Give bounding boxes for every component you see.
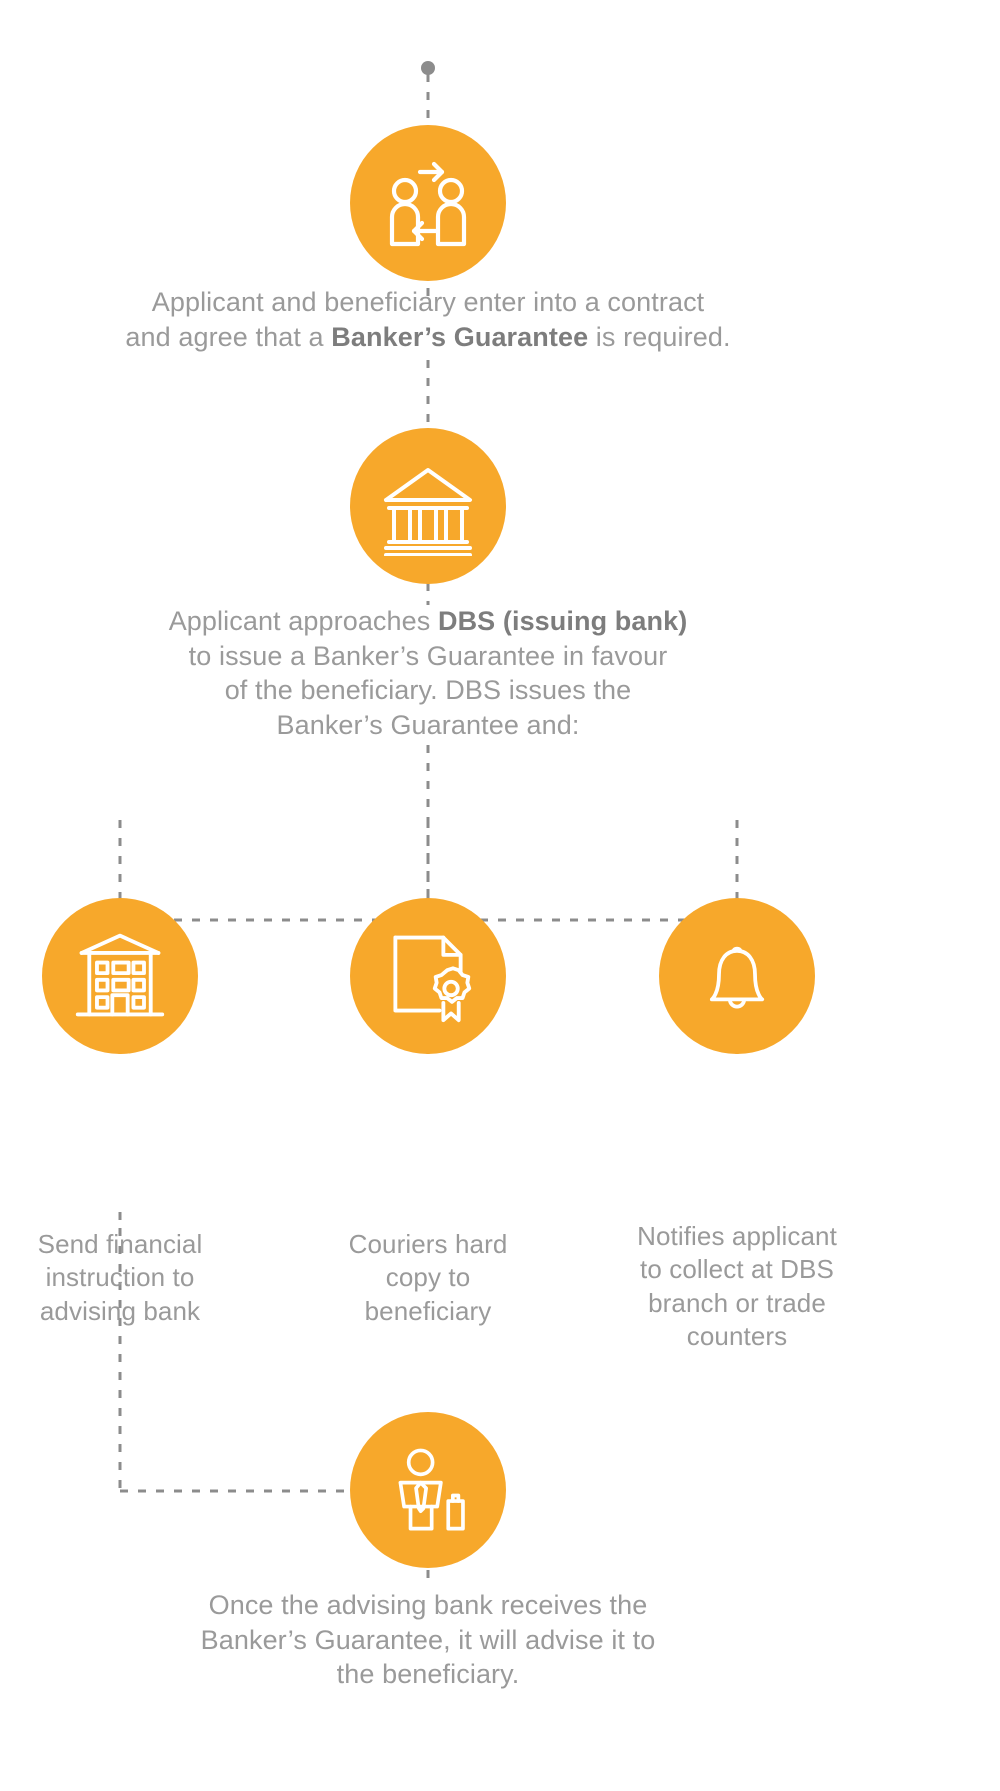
infographic-canvas: Applicant and beneficiary enter into a c… xyxy=(0,0,1000,1791)
step-2-line-4: Banker’s Guarantee and: xyxy=(130,708,726,743)
businessman-briefcase-icon xyxy=(382,1444,474,1536)
branch-2-line-1: Couriers hard xyxy=(308,1228,548,1261)
final-step-circle[interactable] xyxy=(350,1412,506,1568)
branch-courier-circle[interactable] xyxy=(350,898,506,1054)
step-1-line-2-pre: and agree that a xyxy=(125,322,331,352)
branch-1-line-2: instruction to xyxy=(0,1261,240,1294)
start-dot-icon xyxy=(421,61,435,75)
branch-advising-bank-circle[interactable] xyxy=(42,898,198,1054)
notification-bell-icon xyxy=(692,931,782,1021)
step-2-line-1-bold: DBS (issuing bank) xyxy=(438,606,687,636)
step-1-line-2-post: is required. xyxy=(588,322,730,352)
branch-3-line-1: Notifies applicant xyxy=(612,1220,862,1253)
step-2-circle[interactable] xyxy=(350,428,506,584)
final-line-2: Banker’s Guarantee, it will advise it to xyxy=(150,1623,706,1658)
bank-building-icon xyxy=(378,456,478,556)
two-people-exchange-icon xyxy=(380,155,476,251)
step-2-line-1-pre: Applicant approaches xyxy=(169,606,438,636)
final-line-3: the beneficiary. xyxy=(150,1657,706,1692)
branch-3-line-2: to collect at DBS xyxy=(612,1253,862,1286)
step-2-line-3: of the beneficiary. DBS issues the xyxy=(130,673,726,708)
branch-2-line-3: beneficiary xyxy=(308,1295,548,1328)
final-step-caption: Once the advising bank receives the Bank… xyxy=(150,1588,706,1692)
branch-notify-caption: Notifies applicant to collect at DBS bra… xyxy=(612,1220,862,1353)
branch-3-line-3: branch or trade xyxy=(612,1287,862,1320)
connector-lines xyxy=(0,0,1000,1791)
step-1-line-2: and agree that a Banker’s Guarantee is r… xyxy=(100,320,756,355)
branch-notify-circle[interactable] xyxy=(659,898,815,1054)
branch-3-line-4: counters xyxy=(612,1320,862,1353)
branch-courier-caption: Couriers hard copy to beneficiary xyxy=(308,1228,548,1328)
branch-2-line-2: copy to xyxy=(308,1261,548,1294)
step-1-circle[interactable] xyxy=(350,125,506,281)
office-building-icon xyxy=(72,928,168,1024)
step-1-line-2-bold: Banker’s Guarantee xyxy=(331,322,588,352)
certificate-document-icon xyxy=(380,928,476,1024)
step-2-line-2: to issue a Banker’s Guarantee in favour xyxy=(130,639,726,674)
step-2-caption: Applicant approaches DBS (issuing bank) … xyxy=(130,604,726,742)
branch-1-line-3: advising bank xyxy=(0,1295,240,1328)
step-1-caption: Applicant and beneficiary enter into a c… xyxy=(100,285,756,354)
branch-advising-bank-caption: Send financial instruction to advising b… xyxy=(0,1228,240,1328)
step-2-line-1: Applicant approaches DBS (issuing bank) xyxy=(130,604,726,639)
final-line-1: Once the advising bank receives the xyxy=(150,1588,706,1623)
branch-1-line-1: Send financial xyxy=(0,1228,240,1261)
step-1-line-1: Applicant and beneficiary enter into a c… xyxy=(100,285,756,320)
